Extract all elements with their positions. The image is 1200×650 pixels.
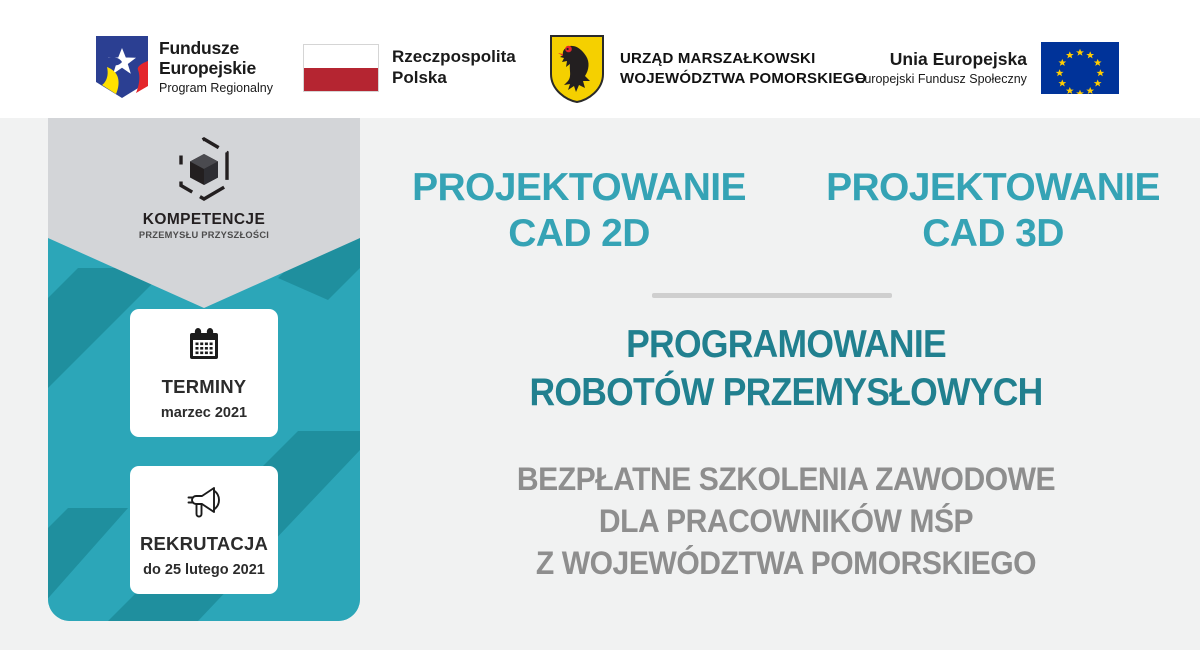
eu-line-1: Unia Europejska <box>856 50 1027 70</box>
note-line-2: DLA PRACOWNIKÓW MŚP <box>397 500 1175 542</box>
poland-flag-icon <box>303 44 379 92</box>
fundusze-europejskie-icon <box>96 36 148 98</box>
fundusze-europejskie-text: Fundusze Europejskie Program Regionalny <box>159 39 273 95</box>
brand-name: KOMPETENCJE <box>143 211 265 229</box>
rzeczpospolita-polska-text: Rzeczpospolita Polska <box>392 47 516 88</box>
program-line-1: PROGRAMOWANIE <box>409 321 1162 369</box>
course-2d-line-1: PROJEKTOWANIE <box>372 165 786 211</box>
logo-unia-europejska: Unia Europejska Europejski Fundusz Społe… <box>856 42 1119 94</box>
course-3d-line-2: CAD 3D <box>786 211 1200 257</box>
hexagon-cube-icon <box>173 136 235 202</box>
kompetencje-card: KOMPETENCJE PRZEMYSŁU PRZYSZŁOŚCI <box>48 118 360 621</box>
um-line-2: WOJEWÓDZTWA POMORSKIEGO <box>620 69 867 89</box>
program-line-2: ROBOTÓW PRZEMYSŁOWYCH <box>409 369 1162 417</box>
course-cad-3d: PROJEKTOWANIE CAD 3D <box>786 165 1200 257</box>
note-line-1: BEZPŁATNE SZKOLENIA ZAWODOWE <box>397 458 1175 500</box>
megaphone-icon <box>183 482 225 522</box>
brand-tagline: PRZEMYSŁU PRZYSZŁOŚCI <box>139 230 269 240</box>
note-line-3: Z WOJEWÓDZTWA POMORSKIEGO <box>397 542 1175 584</box>
eligibility-note: BEZPŁATNE SZKOLENIA ZAWODOWE DLA PRACOWN… <box>372 458 1200 585</box>
badge-terminy: TERMINY marzec 2021 <box>130 309 278 437</box>
badge-rekrutacja-title: REKRUTACJA <box>140 533 268 555</box>
pomeranian-coat-of-arms-icon <box>548 34 606 104</box>
course-cad-2d: PROJEKTOWANIE CAD 2D <box>372 165 786 257</box>
fe-line-2: Europejskie <box>159 59 273 79</box>
logo-rzeczpospolita-polska: Rzeczpospolita Polska <box>303 44 516 92</box>
course-2d-line-2: CAD 2D <box>372 211 786 257</box>
poster-content: PROJEKTOWANIE CAD 2D PROJEKTOWANIE CAD 3… <box>372 118 1200 650</box>
calendar-icon <box>185 325 223 365</box>
poster-root: Fundusze Europejskie Program Regionalny … <box>0 0 1200 650</box>
course-programowanie-robotow: PROGRAMOWANIE ROBOTÓW PRZEMYSŁOWYCH <box>372 321 1200 416</box>
fe-line-1: Fundusze <box>159 39 273 59</box>
european-union-flag-icon <box>1041 42 1119 94</box>
urzad-marszalkowski-text: URZĄD MARSZAŁKOWSKI WOJEWÓDZTWA POMORSKI… <box>620 49 867 90</box>
eu-funding-logo-bar: Fundusze Europejskie Program Regionalny … <box>0 0 1200 118</box>
um-line-1: URZĄD MARSZAŁKOWSKI <box>620 49 867 69</box>
logo-urzad-marszalkowski: URZĄD MARSZAŁKOWSKI WOJEWÓDZTWA POMORSKI… <box>548 34 867 104</box>
eu-line-2: Europejski Fundusz Społeczny <box>856 72 1027 86</box>
course-titles-row: PROJEKTOWANIE CAD 2D PROJEKTOWANIE CAD 3… <box>372 165 1200 257</box>
section-divider <box>652 293 892 298</box>
fe-line-3: Program Regionalny <box>159 81 273 95</box>
badge-terminy-title: TERMINY <box>162 376 247 398</box>
course-3d-line-1: PROJEKTOWANIE <box>786 165 1200 211</box>
kompetencje-brand: KOMPETENCJE PRZEMYSŁU PRZYSZŁOŚCI <box>48 136 360 240</box>
badge-terminy-subtitle: marzec 2021 <box>161 405 247 421</box>
pl-line-2: Polska <box>392 68 516 89</box>
badge-rekrutacja: REKRUTACJA do 25 lutego 2021 <box>130 466 278 594</box>
badge-rekrutacja-subtitle: do 25 lutego 2021 <box>143 562 265 578</box>
unia-europejska-text: Unia Europejska Europejski Fundusz Społe… <box>856 50 1027 87</box>
logo-fundusze-europejskie: Fundusze Europejskie Program Regionalny <box>96 36 273 98</box>
pl-line-1: Rzeczpospolita <box>392 47 516 68</box>
